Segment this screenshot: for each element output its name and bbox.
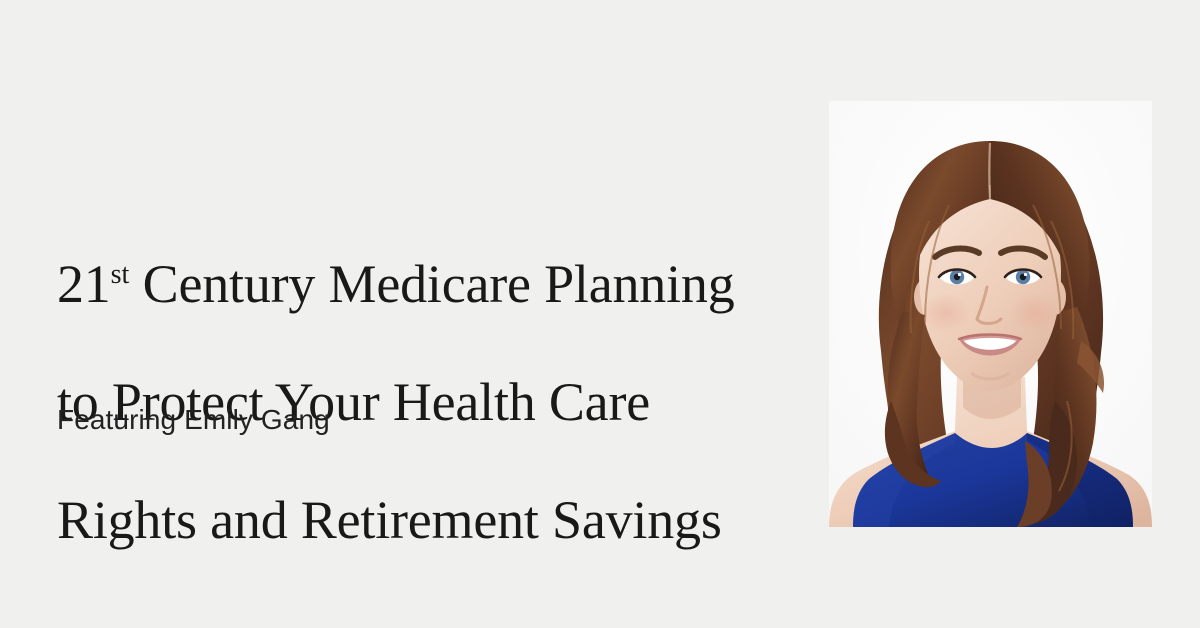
- page-title: 21st Century Medicare Planning to Protec…: [57, 196, 777, 609]
- share-card-canvas: 21st Century Medicare Planning to Protec…: [0, 0, 1200, 628]
- ordinal-suffix: st: [111, 259, 130, 290]
- headline-line-1: 21st Century Medicare Planning: [57, 255, 777, 314]
- speaker-headshot-photo: [829, 101, 1152, 527]
- headline-line-3: Rights and Retirement Savings: [57, 491, 777, 550]
- hair-part-line: [989, 143, 990, 199]
- subtitle-featuring: Featuring Emily Gang: [57, 404, 330, 436]
- headline-line-1-number: 21: [57, 254, 111, 314]
- headline-line-1-rest: Century Medicare Planning: [129, 254, 734, 314]
- cheek-right: [1009, 293, 1061, 333]
- headshot-illustration: [829, 101, 1152, 527]
- headline-block: 21st Century Medicare Planning to Protec…: [57, 196, 777, 609]
